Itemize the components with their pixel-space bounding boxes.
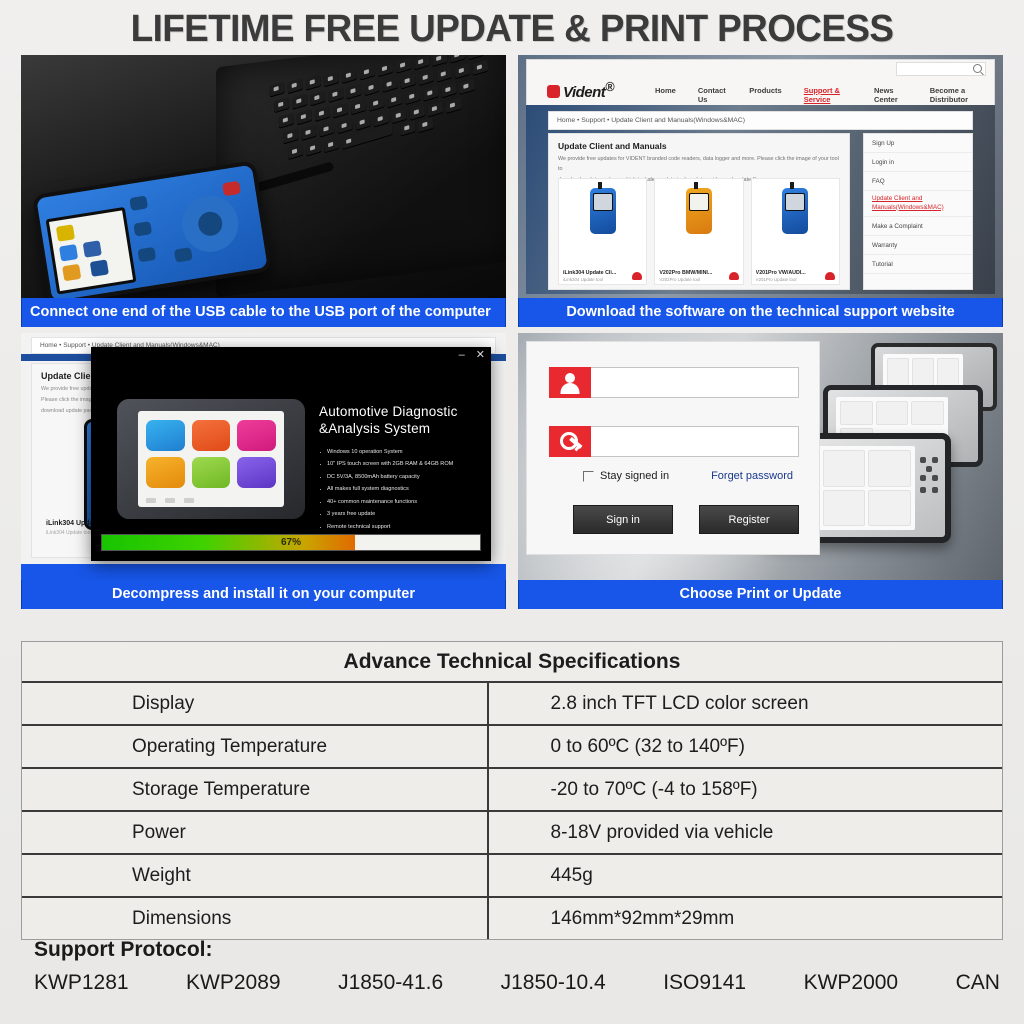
- nav-item-become-a-distributor[interactable]: Become a Distributor: [930, 86, 986, 104]
- spec-table: Display2.8 inch TFT LCD color screen Ope…: [22, 683, 1002, 939]
- support-protocol-title: Support Protocol:: [34, 938, 1004, 962]
- spec-key: Power: [22, 811, 488, 854]
- specifications-title: Advance Technical Specifications: [22, 642, 1002, 683]
- app-icon-setting: [237, 457, 276, 488]
- register-button[interactable]: Register: [699, 505, 799, 534]
- product-subtitle: iLink304 Update tool: [46, 530, 92, 536]
- sidebar-item-tutorial[interactable]: Tutorial: [864, 255, 972, 274]
- scanner-screen: [46, 207, 137, 295]
- spec-key: Dimensions: [22, 897, 488, 939]
- product-card[interactable]: V201Pro VW/AUDI... V201Pro Update tool: [751, 178, 840, 285]
- tablet-product-image: [117, 399, 305, 519]
- nav-item-contact-us[interactable]: Contact Us: [698, 86, 727, 104]
- minimize-icon[interactable]: –: [459, 350, 465, 361]
- password-input[interactable]: [591, 426, 799, 457]
- download-icon[interactable]: [729, 272, 739, 280]
- nav-item-products[interactable]: Products: [749, 86, 782, 104]
- checkbox-icon[interactable]: [583, 471, 594, 482]
- infographic-page: LIFETIME FREE UPDATE & PRINT PROCESS: [0, 0, 1024, 1024]
- search-icon[interactable]: [973, 64, 982, 73]
- app-icon-maintenance: [192, 420, 231, 451]
- brand-mark-icon: [547, 85, 560, 98]
- step-card-4: Stay signed in Forget password Sign in R…: [518, 333, 1003, 609]
- laptop-keyboard: [269, 55, 506, 177]
- update-client-card: Update Client and Manuals We provide fre…: [548, 133, 850, 290]
- sidebar-item-sign-up[interactable]: Sign Up: [864, 134, 972, 153]
- window-controls: – ✕: [459, 350, 485, 361]
- card-text-line1: We provide free updates for VIDENT brand…: [558, 154, 840, 175]
- spec-value: 445g: [488, 854, 1003, 897]
- steps-row-1: Connect one end of the USB cable to the …: [21, 55, 1003, 327]
- user-icon: [549, 367, 591, 398]
- product-name: V201Pro VW/AUDI...: [756, 270, 824, 276]
- main-nav: Home Contact Us Products Support & Servi…: [655, 86, 986, 104]
- step-card-3: Home • Support • Update Client and Manua…: [21, 333, 506, 609]
- product-card[interactable]: iLink304 Update Cli... iLink304 Update t…: [558, 178, 647, 285]
- key-icon: [549, 426, 591, 457]
- sidebar-item-make-a-complaint[interactable]: Make a Complaint: [864, 217, 972, 236]
- installer-window: – ✕: [91, 347, 491, 561]
- support-sidebar: Sign Up Login in FAQ Update Client and M…: [863, 133, 973, 290]
- install-progress-bar: 67%: [101, 534, 481, 551]
- feature-item: Windows 10 operation System: [319, 449, 483, 455]
- spec-key: Display: [22, 683, 488, 725]
- protocol-item: J1850-41.6: [338, 971, 443, 995]
- steps-grid: Connect one end of the USB cable to the …: [21, 55, 1003, 609]
- product-subtitle: V201Pro Update tool: [756, 277, 824, 282]
- protocol-item: KWP2000: [804, 971, 899, 995]
- table-row: Weight445g: [22, 854, 1002, 897]
- sign-in-button[interactable]: Sign in: [573, 505, 673, 534]
- step-3-caption: Decompress and install it on your comput…: [21, 580, 506, 609]
- download-icon[interactable]: [825, 272, 835, 280]
- protocol-item: J1850-10.4: [501, 971, 606, 995]
- nav-item-home[interactable]: Home: [655, 86, 676, 104]
- brand-name: Vident: [563, 84, 605, 101]
- stay-signed-in-label: Stay signed in: [600, 470, 669, 482]
- page-title: LIFETIME FREE UPDATE & PRINT PROCESS: [15, 8, 1008, 51]
- login-buttons: Sign in Register: [573, 505, 799, 534]
- login-options-row: Stay signed in Forget password: [583, 470, 793, 482]
- product-name: iLink304 Update Cli...: [563, 270, 631, 276]
- spec-key: Operating Temperature: [22, 725, 488, 768]
- device-thumbnail: [782, 188, 808, 234]
- spec-value: -20 to 70ºC (-4 to 158ºF): [488, 768, 1003, 811]
- feature-item: 3 years free update: [319, 511, 483, 517]
- protocol-item: KWP1281: [34, 971, 129, 995]
- protocol-item: ISO9141: [663, 971, 746, 995]
- feature-item: 10" IPS touch screen with 2GB RAM & 64GB…: [319, 461, 483, 467]
- app-icon-about: [192, 457, 231, 488]
- username-row: [549, 367, 799, 398]
- tablet-taskbar: [146, 498, 276, 504]
- app-icon-localize: [146, 457, 185, 488]
- app-icon-diagnosis: [146, 420, 185, 451]
- device-thumbnail: [686, 188, 712, 234]
- support-protocol-list: KWP1281 KWP2089 J1850-41.6 J1850-10.4 IS…: [34, 971, 1004, 995]
- nav-item-support-service[interactable]: Support & Service: [804, 86, 852, 104]
- spec-value: 0 to 60ºC (32 to 140ºF): [488, 725, 1003, 768]
- table-row: Power8-18V provided via vehicle: [22, 811, 1002, 854]
- close-icon[interactable]: ✕: [476, 350, 485, 361]
- tablet-screen: [138, 411, 284, 507]
- steps-row-2: Home • Support • Update Client and Manua…: [21, 333, 1003, 609]
- table-row: Display2.8 inch TFT LCD color screen: [22, 683, 1002, 725]
- step-2-screenshot: Sign up | Log in Vident® Home Contact Us…: [518, 55, 1003, 298]
- product-subtitle: iLink304 Update tool: [563, 277, 631, 282]
- progress-label: 67%: [102, 535, 480, 550]
- forget-password-link[interactable]: Forget password: [711, 470, 793, 482]
- stay-signed-in-checkbox[interactable]: Stay signed in: [583, 470, 669, 482]
- table-row: Operating Temperature0 to 60ºC (32 to 14…: [22, 725, 1002, 768]
- product-card-list: iLink304 Update Cli... iLink304 Update t…: [558, 178, 840, 285]
- step-4-caption: Choose Print or Update: [518, 580, 1003, 609]
- step-card-2: Sign up | Log in Vident® Home Contact Us…: [518, 55, 1003, 327]
- download-icon[interactable]: [632, 272, 642, 280]
- feature-item: Remote technical support: [319, 524, 483, 530]
- support-protocol-section: Support Protocol: KWP1281 KWP2089 J1850-…: [34, 938, 1004, 995]
- scanner-dpad: [178, 192, 242, 256]
- page-footer-bar: [21, 564, 506, 580]
- step-card-1: Connect one end of the USB cable to the …: [21, 55, 506, 327]
- product-name: V202Pro BMW/MINI...: [659, 270, 727, 276]
- nav-item-news-center[interactable]: News Center: [874, 86, 908, 104]
- step-2-caption: Download the software on the technical s…: [518, 298, 1003, 327]
- spec-value: 146mm*92mm*29mm: [488, 897, 1003, 939]
- protocol-item: KWP2089: [186, 971, 281, 995]
- tablet-side-keys: [920, 457, 940, 495]
- sidebar-item-update-client-and-manuals[interactable]: Update Client and Manuals(Windows&MAC): [864, 191, 972, 217]
- spec-key: Weight: [22, 854, 488, 897]
- spec-value: 2.8 inch TFT LCD color screen: [488, 683, 1003, 725]
- step-3-screenshot: Home • Support • Update Client and Manua…: [21, 333, 506, 580]
- spec-key: Storage Temperature: [22, 768, 488, 811]
- feature-item: DC 5V/3A, 8500mAh battery capacity: [319, 474, 483, 480]
- spec-value: 8-18V provided via vehicle: [488, 811, 1003, 854]
- protocol-item: CAN: [956, 971, 1000, 995]
- feature-item: 40+ common maintenance functions: [319, 499, 483, 505]
- sidebar-item-login-in[interactable]: Login in: [864, 153, 972, 172]
- website-body: Home • Support • Update Client and Manua…: [526, 105, 995, 294]
- step-1-caption: Connect one end of the USB cable to the …: [21, 298, 506, 327]
- step-1-photo: [21, 55, 506, 298]
- brand-suffix: ®: [605, 80, 614, 94]
- installer-title: Automotive Diagnostic&Analysis System: [319, 403, 483, 438]
- app-icon-data-management: [237, 420, 276, 451]
- breadcrumb: Home • Support • Update Client and Manua…: [548, 111, 973, 130]
- product-subtitle: V202Pro Update tool: [659, 277, 727, 282]
- sidebar-item-warranty[interactable]: Warranty: [864, 236, 972, 255]
- card-title: Update Client and Manuals: [558, 141, 849, 151]
- installer-info: Automotive Diagnostic&Analysis System Wi…: [319, 403, 483, 536]
- sidebar-item-faq[interactable]: FAQ: [864, 172, 972, 191]
- product-card[interactable]: V202Pro BMW/MINI... V202Pro Update tool: [654, 178, 743, 285]
- specifications-table: Advance Technical Specifications Display…: [21, 641, 1003, 940]
- website-header: Sign up | Log in Vident® Home Contact Us…: [526, 59, 995, 107]
- login-form: Stay signed in Forget password Sign in R…: [526, 341, 820, 555]
- password-row: [549, 426, 799, 457]
- device-thumbnail: [590, 188, 616, 234]
- table-row: Storage Temperature-20 to 70ºC (-4 to 15…: [22, 768, 1002, 811]
- step-4-screenshot: Stay signed in Forget password Sign in R…: [518, 333, 1003, 580]
- feature-item: All makes full system diagnostics: [319, 486, 483, 492]
- installer-feature-list: Windows 10 operation System 10" IPS touc…: [319, 449, 483, 530]
- brand-logo[interactable]: Vident®: [547, 80, 614, 101]
- table-row: Dimensions146mm*92mm*29mm: [22, 897, 1002, 939]
- tablet-app-grid: [146, 420, 276, 488]
- username-input[interactable]: [591, 367, 799, 398]
